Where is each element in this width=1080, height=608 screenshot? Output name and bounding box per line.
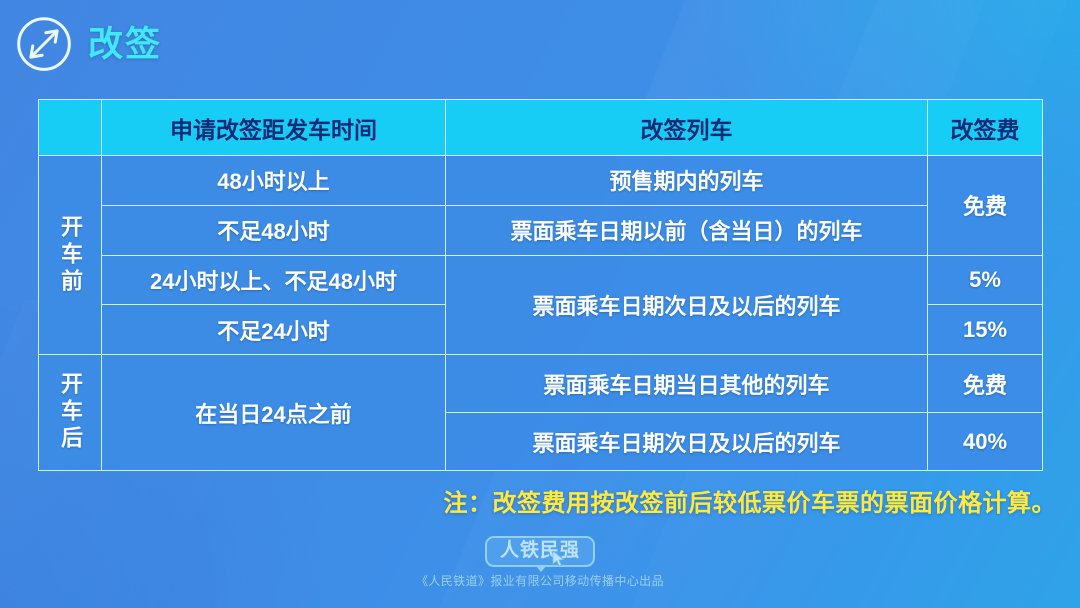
cell-train: 预售期内的列车 (446, 156, 928, 206)
cell-fee: 40% (928, 413, 1043, 471)
segment-label-before-departure: 开车前 (39, 156, 102, 355)
cell-fee: 15% (928, 305, 1043, 355)
cell-time: 不足24小时 (102, 305, 446, 355)
brand-badge: 人铁民强 (485, 536, 595, 567)
cell-time: 48小时以上 (102, 156, 446, 206)
rebooking-exchange-icon (14, 14, 74, 74)
column-header-train: 改签列车 (446, 100, 928, 156)
cell-time: 24小时以上、不足48小时 (102, 255, 446, 305)
table-row: 开车前 48小时以上 预售期内的列车 免费 (39, 156, 1043, 206)
rebooking-fee-table: 申请改签距发车时间 改签列车 改签费 开车前 48小时以上 预售期内的列车 免费… (38, 99, 1042, 471)
cell-train: 票面乘车日期次日及以后的列车 (446, 413, 928, 471)
cell-time: 在当日24点之前 (102, 355, 446, 471)
cell-train: 票面乘车日期当日其他的列车 (446, 355, 928, 413)
table-row: 24小时以上、不足48小时 票面乘车日期次日及以后的列车 5% (39, 255, 1043, 305)
cell-time: 不足48小时 (102, 205, 446, 255)
cursor-pointer-icon (552, 550, 567, 568)
page-title: 改签 (88, 27, 162, 62)
segment-label-after-departure: 开车后 (39, 355, 102, 471)
column-header-fee: 改签费 (928, 100, 1043, 156)
cell-train: 票面乘车日期次日及以后的列车 (446, 255, 928, 355)
table-row: 开车后 在当日24点之前 票面乘车日期当日其他的列车 免费 (39, 355, 1043, 413)
brand-name: 人铁民强 (500, 540, 580, 562)
table-header-row: 申请改签距发车时间 改签列车 改签费 (39, 100, 1043, 156)
cell-train: 票面乘车日期以前（含当日）的列车 (446, 205, 928, 255)
publisher-caption: 《人民铁道》报业有限公司移动传播中心出品 (416, 572, 664, 589)
column-header-segment (39, 100, 102, 156)
page-header: 改签 (14, 14, 162, 74)
cell-fee: 免费 (928, 355, 1043, 413)
column-header-time: 申请改签距发车时间 (102, 100, 446, 156)
page-footer: 人铁民强 《人民铁道》报业有限公司移动传播中心出品 (0, 536, 1080, 589)
cell-fee: 5% (928, 255, 1043, 305)
table-row: 不足48小时 票面乘车日期以前（含当日）的列车 (39, 205, 1043, 255)
cell-fee: 免费 (928, 156, 1043, 256)
fee-calculation-note: 注：改签费用按改签前后较低票价车票的票面价格计算。 (444, 483, 1057, 518)
